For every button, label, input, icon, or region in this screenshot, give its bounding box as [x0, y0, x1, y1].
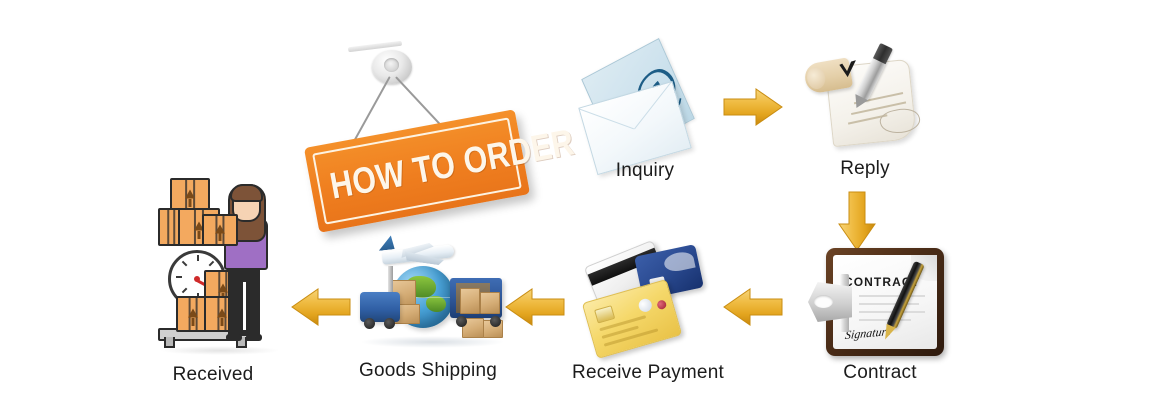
warehouse-scale-boxes-icon — [158, 178, 288, 358]
fragile-arrow-stem — [219, 233, 222, 241]
card-swoosh — [663, 250, 696, 274]
clipboard-clip-hole — [814, 295, 833, 308]
fragile-arrow-icon — [217, 309, 227, 318]
scale-tick — [209, 261, 215, 267]
step-label-inquiry: Inquiry — [590, 160, 700, 182]
scale-tick — [182, 261, 188, 267]
step-label-receive-payment: Receive Payment — [568, 362, 728, 384]
clipboard-contract-pen-icon: CONTRACT Signature — [808, 248, 948, 358]
scale-needle-hub — [194, 276, 200, 282]
card-number-line — [604, 328, 659, 346]
carried-box — [202, 214, 238, 246]
fragile-arrow-stem — [221, 318, 224, 326]
worker-legs — [228, 264, 260, 336]
step-label-contract: Contract — [820, 362, 940, 384]
forklift-wheel — [384, 318, 395, 329]
truck-wheel — [490, 316, 501, 327]
card-chip — [594, 305, 615, 323]
fragile-arrow-stem — [189, 199, 192, 207]
scroll-checkmark-pen-icon — [805, 45, 925, 155]
scroll-stamp-blob — [878, 105, 922, 137]
card-hologram — [637, 297, 653, 313]
worker-shoe — [226, 334, 242, 341]
worker-fringe — [230, 184, 263, 202]
fragile-arrow-icon — [185, 190, 195, 199]
sign-board: HOW TO ORDER — [304, 109, 530, 233]
fragile-arrow-stem — [192, 318, 195, 326]
hook-hole-icon — [384, 58, 399, 72]
step-label-goods-shipping: Goods Shipping — [348, 360, 508, 382]
arrow-left-icon — [722, 286, 784, 333]
arrow-left-icon — [504, 286, 566, 333]
forklift-icon — [360, 292, 400, 322]
step-label-received: Received — [158, 364, 268, 386]
worker-shoe — [246, 334, 262, 341]
scale-tick — [197, 255, 199, 261]
scale-foot — [164, 337, 175, 348]
fragile-arrow-icon — [188, 309, 198, 318]
email-envelope-at-icon: @ — [580, 55, 710, 155]
scale-tick — [182, 288, 188, 294]
forklift-wheel — [364, 318, 375, 329]
card-logo-dot — [656, 299, 667, 310]
credit-cards-icon — [588, 250, 708, 355]
arrow-down-icon — [836, 190, 878, 257]
contract-text-line — [859, 303, 919, 305]
stacked-box — [170, 178, 210, 212]
scale-tick — [176, 276, 182, 278]
received-shadow — [160, 346, 280, 355]
shipping-box — [480, 292, 500, 314]
fragile-arrow-icon — [218, 284, 228, 293]
truck-wheel — [456, 316, 467, 327]
contract-text-line — [859, 295, 925, 297]
globe-landmass — [426, 296, 446, 312]
envelope-fold-left — [579, 109, 634, 130]
arrow-left-icon — [290, 286, 352, 333]
how-to-order-diagram: HOW TO ORDER @ Inquiry — [0, 0, 1151, 414]
contract-text-line — [859, 319, 911, 321]
checkmark-icon — [838, 60, 859, 81]
plane-globe-truck-icon — [350, 244, 510, 356]
box-tape — [167, 210, 175, 244]
step-label-reply: Reply — [815, 158, 915, 180]
arrow-right-icon — [722, 86, 784, 133]
shipping-box — [460, 288, 480, 314]
fragile-arrow-stem — [198, 231, 201, 239]
how-to-order-sign: HOW TO ORDER — [310, 42, 540, 242]
